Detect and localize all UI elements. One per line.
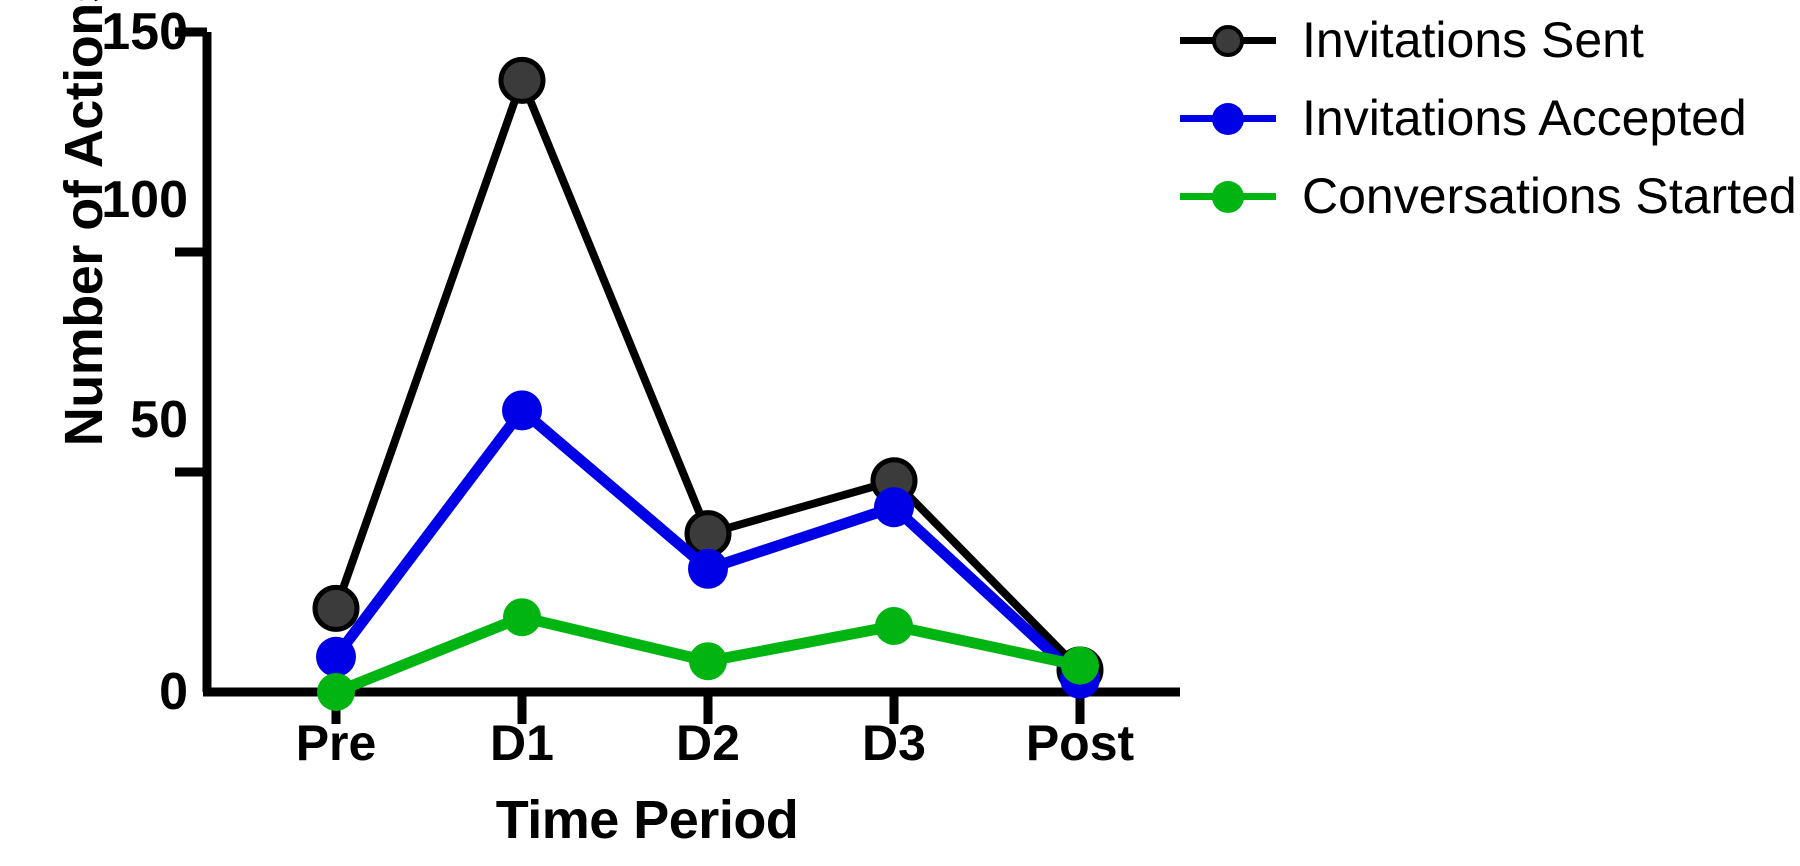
data-point[interactable] [317,673,355,711]
legend-item-conversations-started[interactable]: Conversations Started [1180,164,1797,228]
legend-item-invitations-accepted[interactable]: Invitations Accepted [1180,86,1797,150]
legend-marker-icon-sent [1180,23,1276,57]
legend-label-sent: Invitations Sent [1302,15,1644,65]
data-point[interactable] [687,513,729,555]
legend-marker-icon-accepted [1180,101,1276,135]
data-point[interactable] [501,59,543,101]
data-point[interactable] [316,637,356,677]
legend-marker-icon-started [1180,179,1276,213]
data-point[interactable] [1061,647,1099,685]
data-point[interactable] [315,587,357,629]
series-layer [315,59,1101,711]
data-point[interactable] [503,598,541,636]
data-point[interactable] [688,549,728,589]
data-point[interactable] [874,487,914,527]
data-point[interactable] [502,390,542,430]
legend-item-invitations-sent[interactable]: Invitations Sent [1180,8,1797,72]
data-point[interactable] [875,607,913,645]
legend: Invitations Sent Invitations Accepted Co… [1180,8,1797,242]
legend-label-started: Conversations Started [1302,171,1797,221]
legend-label-accepted: Invitations Accepted [1302,93,1747,143]
data-point[interactable] [689,642,727,680]
line-chart: Number of Actions Time Period 150 100 50… [0,0,1800,866]
